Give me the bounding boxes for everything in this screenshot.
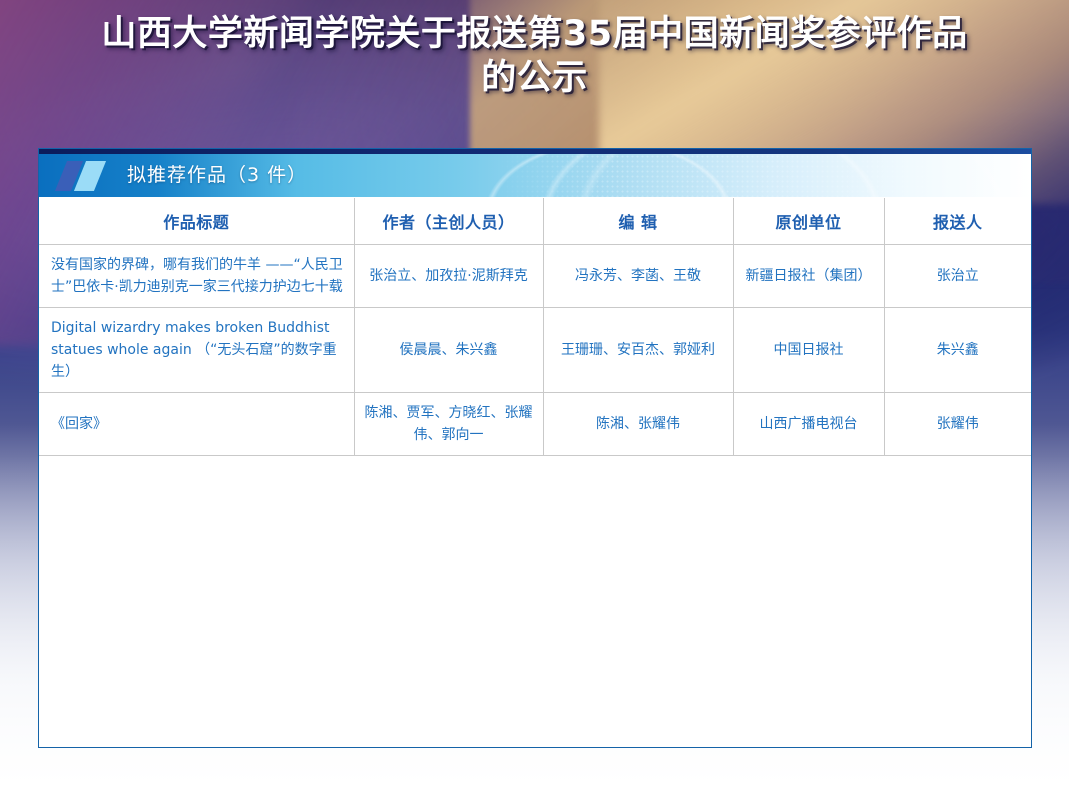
page-title-line-1: 山西大学新闻学院关于报送第35届中国新闻奖参评作品	[36, 12, 1033, 56]
cell-unit: 新疆日报社（集团）	[733, 245, 884, 308]
table-row: 《回家》 陈湘、贾军、方晓红、张耀伟、郭向一 陈湘、张耀伟 山西广播电视台 张耀…	[39, 393, 1031, 456]
cell-sender: 朱兴鑫	[884, 308, 1031, 393]
cell-author: 陈湘、贾军、方晓红、张耀伟、郭向一	[354, 393, 543, 456]
cell-editor: 陈湘、张耀伟	[543, 393, 733, 456]
works-card: 拟推荐作品（3 件） 作品标题 作者（主创人员） 编 辑 原创单位 报送人 没有…	[38, 148, 1032, 748]
cell-editor: 王珊珊、安百杰、郭娅利	[543, 308, 733, 393]
double-parallelogram-icon	[61, 161, 113, 191]
table-row: Digital wizardry makes broken Buddhist s…	[39, 308, 1031, 393]
banner-arc-lines	[436, 154, 1011, 197]
cell-work-title: 《回家》	[39, 393, 354, 456]
column-header-author: 作者（主创人员）	[354, 198, 543, 245]
cell-unit: 山西广播电视台	[733, 393, 884, 456]
table-header-row: 作品标题 作者（主创人员） 编 辑 原创单位 报送人	[39, 198, 1031, 245]
column-header-unit: 原创单位	[733, 198, 884, 245]
banner-title: 拟推荐作品（3 件）	[127, 149, 307, 197]
card-banner: 拟推荐作品（3 件）	[39, 149, 1031, 198]
table-row: 没有国家的界碑，哪有我们的牛羊 ——“人民卫士”巴依卡·凯力迪别克一家三代接力护…	[39, 245, 1031, 308]
cell-author: 侯晨晨、朱兴鑫	[354, 308, 543, 393]
works-table: 作品标题 作者（主创人员） 编 辑 原创单位 报送人 没有国家的界碑，哪有我们的…	[39, 198, 1031, 456]
column-header-title: 作品标题	[39, 198, 354, 245]
cell-sender: 张治立	[884, 245, 1031, 308]
table-body: 没有国家的界碑，哪有我们的牛羊 ——“人民卫士”巴依卡·凯力迪别克一家三代接力护…	[39, 245, 1031, 456]
table-header: 作品标题 作者（主创人员） 编 辑 原创单位 报送人	[39, 198, 1031, 245]
cell-work-title: Digital wizardry makes broken Buddhist s…	[39, 308, 354, 393]
page-title-line-2: 的公示	[36, 56, 1033, 100]
cell-work-title: 没有国家的界碑，哪有我们的牛羊 ——“人民卫士”巴依卡·凯力迪别克一家三代接力护…	[39, 245, 354, 308]
cell-unit: 中国日报社	[733, 308, 884, 393]
cell-sender: 张耀伟	[884, 393, 1031, 456]
page-title: 山西大学新闻学院关于报送第35届中国新闻奖参评作品 的公示	[0, 12, 1069, 100]
cell-editor: 冯永芳、李菡、王敬	[543, 245, 733, 308]
cell-author: 张治立、加孜拉·泥斯拜克	[354, 245, 543, 308]
column-header-editor: 编 辑	[543, 198, 733, 245]
column-header-sender: 报送人	[884, 198, 1031, 245]
